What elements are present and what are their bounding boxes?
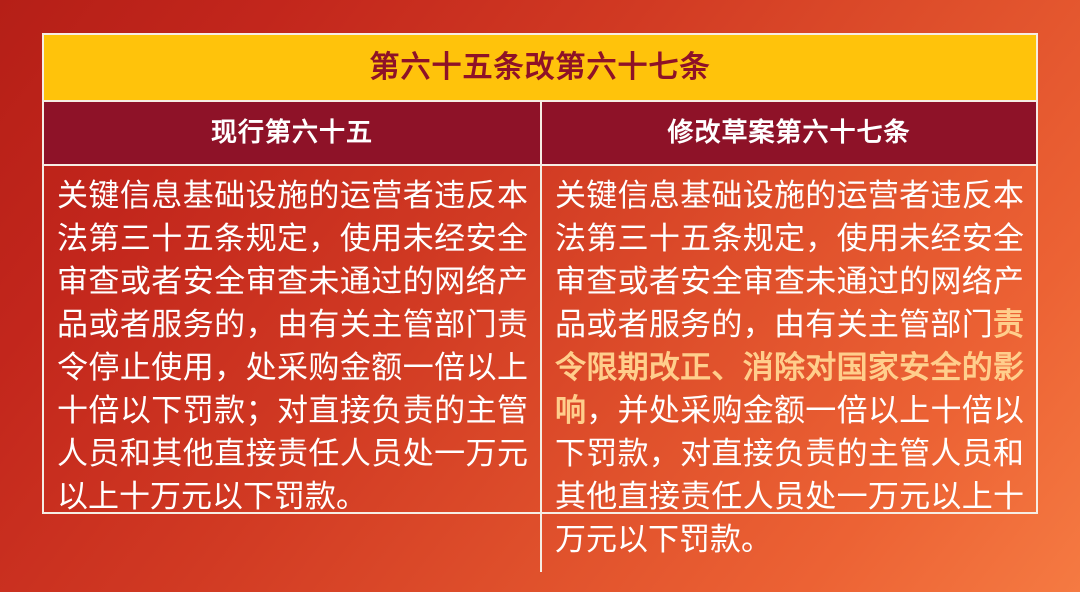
body-text-run: 关键信息基础设施的运营者违反本法第三十五条规定，使用未经安全审查或者安全审查未通… xyxy=(57,178,528,515)
table-header-row: 现行第六十五 修改草案第六十七条 xyxy=(44,100,1036,164)
comparison-table: 第六十五条改第六十七条 现行第六十五 修改草案第六十七条 关键信息基础设施的运营… xyxy=(42,33,1038,514)
current-article-text: 关键信息基础设施的运营者违反本法第三十五条规定，使用未经安全审查或者安全审查未通… xyxy=(57,175,528,519)
body-text-run: 关键信息基础设施的运营者违反本法第三十五条规定，使用未经安全审查或者安全审查未通… xyxy=(555,178,1024,343)
poster-canvas: 第六十五条改第六十七条 现行第六十五 修改草案第六十七条 关键信息基础设施的运营… xyxy=(0,0,1080,592)
column-header-draft-label: 修改草案第六十七条 xyxy=(667,120,910,146)
draft-article-text: 关键信息基础设施的运营者违反本法第三十五条规定，使用未经安全审查或者安全审查未通… xyxy=(555,175,1024,562)
table-body-row: 关键信息基础设施的运营者违反本法第三十五条规定，使用未经安全审查或者安全审查未通… xyxy=(44,164,1036,572)
column-header-draft: 修改草案第六十七条 xyxy=(540,102,1036,164)
table-title-bar: 第六十五条改第六十七条 xyxy=(44,35,1036,100)
page-title: 第六十五条改第六十七条 xyxy=(370,53,711,83)
column-body-draft: 关键信息基础设施的运营者违反本法第三十五条规定，使用未经安全审查或者安全审查未通… xyxy=(540,166,1036,572)
column-header-current-label: 现行第六十五 xyxy=(211,120,373,146)
column-header-current: 现行第六十五 xyxy=(44,102,540,164)
column-body-current: 关键信息基础设施的运营者违反本法第三十五条规定，使用未经安全审查或者安全审查未通… xyxy=(44,166,540,572)
body-text-run: ，并处采购金额一倍以上十倍以下罚款，对直接负责的主管人员和其他直接责任人员处一万… xyxy=(555,393,1024,558)
